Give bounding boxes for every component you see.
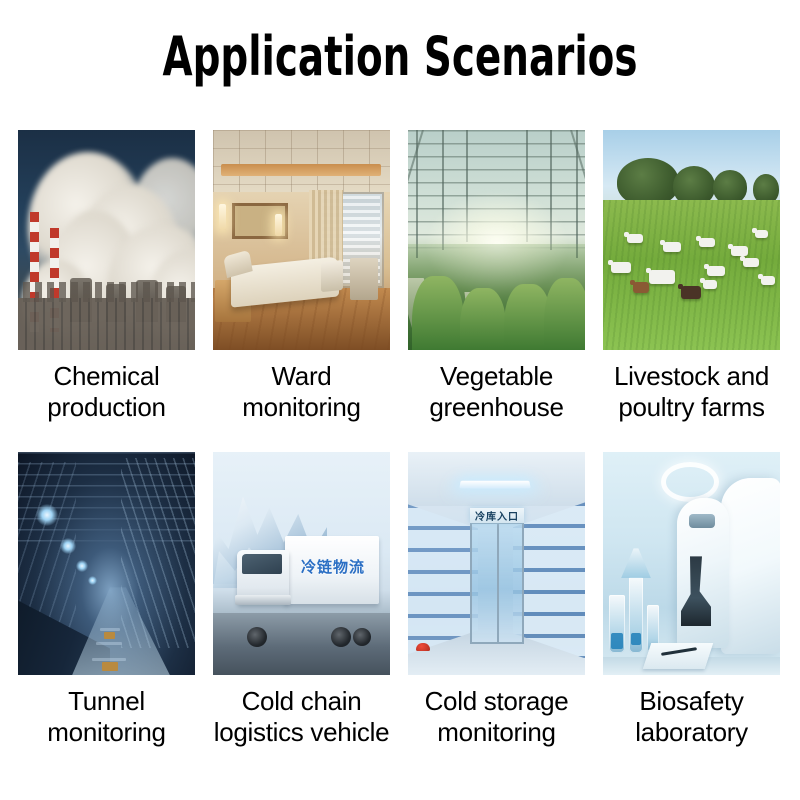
tunnel-light — [76, 560, 88, 572]
scenario-image-vegetable-greenhouse — [408, 130, 585, 350]
cattle — [743, 258, 759, 267]
scenario-caption: Tunnel monitoring — [18, 686, 195, 747]
cattle — [755, 230, 768, 238]
tree — [713, 170, 747, 204]
clipboard — [643, 643, 713, 669]
scenario-image-chemical-production — [18, 130, 195, 350]
reagent-sample — [611, 633, 623, 649]
scenario-caption: Livestock and poultry farms — [603, 361, 780, 422]
crop-row — [544, 278, 585, 350]
pasture-field — [603, 200, 780, 350]
scenario-image-ward-monitoring — [213, 130, 390, 350]
row-spacer — [18, 422, 780, 452]
scenario-image-biosafety-laboratory — [603, 452, 780, 675]
scenario-image-cold-storage-monitoring: 冷库入口 — [408, 452, 585, 675]
cattle — [707, 266, 725, 276]
cattle — [627, 234, 643, 243]
crop-row — [460, 288, 506, 350]
track-sleeper — [100, 628, 120, 631]
scenario-image-livestock-poultry-farms — [603, 130, 780, 350]
city-skyline — [18, 298, 195, 350]
scenario-card-livestock-poultry-farms[interactable]: Livestock and poultry farms — [603, 130, 780, 422]
wall-lamp — [275, 214, 282, 236]
crop-row — [412, 276, 464, 350]
scenario-caption: Ward monitoring — [213, 361, 390, 422]
ceiling-lamp-ring — [661, 462, 719, 502]
track-sleeper — [96, 642, 122, 645]
ceiling-soffit — [221, 164, 381, 176]
researcher-protective-suit — [721, 478, 780, 654]
scenario-caption: Cold chain logistics vehicle — [213, 686, 390, 747]
scenario-image-cold-chain-logistics-vehicle: 冷链物流 — [213, 452, 390, 675]
cattle — [611, 262, 631, 273]
safety-helmet — [416, 643, 430, 651]
cattle — [761, 276, 775, 285]
cattle — [699, 238, 715, 247]
medical-cart — [350, 258, 378, 300]
track-marker — [102, 662, 118, 671]
application-scenarios-page: Application Scenarios Chemical producti — [0, 0, 800, 800]
tree — [617, 158, 679, 206]
truck-bumper — [235, 595, 291, 605]
cattle — [663, 242, 681, 252]
calf — [633, 282, 649, 293]
scenario-caption: Vegetable greenhouse — [408, 361, 585, 422]
track-marker — [104, 632, 115, 639]
cattle — [649, 270, 675, 284]
track-sleeper — [92, 658, 126, 661]
scenario-caption: Biosafety laboratory — [603, 686, 780, 747]
scenario-caption: Cold storage monitoring — [408, 686, 585, 747]
scenario-card-chemical-production[interactable]: Chemical production — [18, 130, 195, 422]
calf — [681, 286, 701, 299]
page-title: Application Scenarios — [80, 30, 720, 84]
ceiling-tiles — [213, 130, 390, 192]
scenario-card-tunnel-monitoring[interactable]: Tunnel monitoring — [18, 452, 195, 747]
reagent-sample — [631, 633, 641, 645]
cold-room-glass-door[interactable] — [470, 522, 524, 644]
scenario-card-cold-chain-logistics-vehicle[interactable]: 冷链物流 Cold chain logistics vehicle — [213, 452, 390, 747]
scenario-card-biosafety-laboratory[interactable]: Biosafety laboratory — [603, 452, 780, 747]
tunnel-light — [88, 576, 97, 585]
lab-flask — [621, 548, 651, 578]
scenario-caption: Chemical production — [18, 361, 195, 422]
storage-shelving-left — [408, 504, 478, 654]
truck-windshield — [242, 554, 282, 574]
scenario-image-tunnel-monitoring — [18, 452, 195, 675]
scenario-card-vegetable-greenhouse[interactable]: Vegetable greenhouse — [408, 130, 585, 422]
scenario-grid: Chemical production Ward monitoring — [18, 130, 782, 748]
ceiling-light — [459, 481, 530, 489]
face-mask — [689, 514, 715, 528]
scenario-card-cold-storage-monitoring[interactable]: 冷库入口 Cold storage monitoring — [408, 452, 585, 747]
truck-body-text: 冷链物流 — [293, 556, 373, 577]
ceiling — [408, 452, 585, 506]
cold-storage-entrance-sign: 冷库入口 — [470, 508, 524, 523]
wall-lamp — [219, 204, 226, 230]
scenario-card-ward-monitoring[interactable]: Ward monitoring — [213, 130, 390, 422]
cattle — [731, 246, 748, 256]
calf — [703, 280, 717, 289]
